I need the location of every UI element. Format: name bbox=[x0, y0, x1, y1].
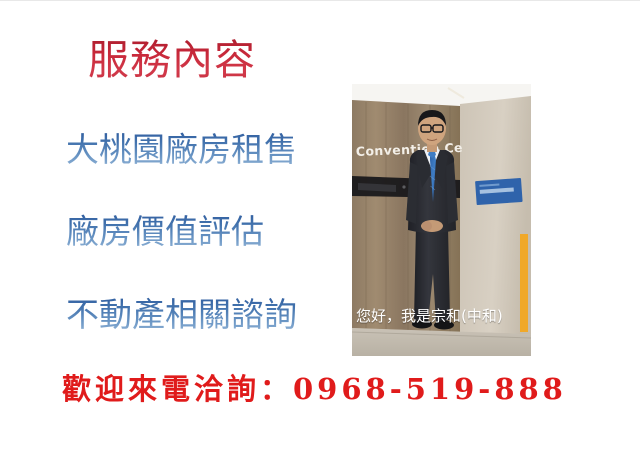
page-title: 服務內容 bbox=[88, 35, 256, 85]
service-item-2: 廠房價值評估 bbox=[66, 212, 264, 252]
service-item-1: 大桃園廠房租售 bbox=[66, 130, 297, 170]
service-item-3: 不動產相關諮詢 bbox=[66, 295, 297, 335]
photo-caption: 您好，我是宗和(中和) bbox=[356, 306, 536, 326]
slide-canvas: 服務內容 大桃園廠房租售 廠房價值評估 不動產相關諮詢 bbox=[0, 0, 640, 451]
contact-phone-line: 歡迎來電洽詢：0968-519-888 bbox=[62, 370, 567, 408]
